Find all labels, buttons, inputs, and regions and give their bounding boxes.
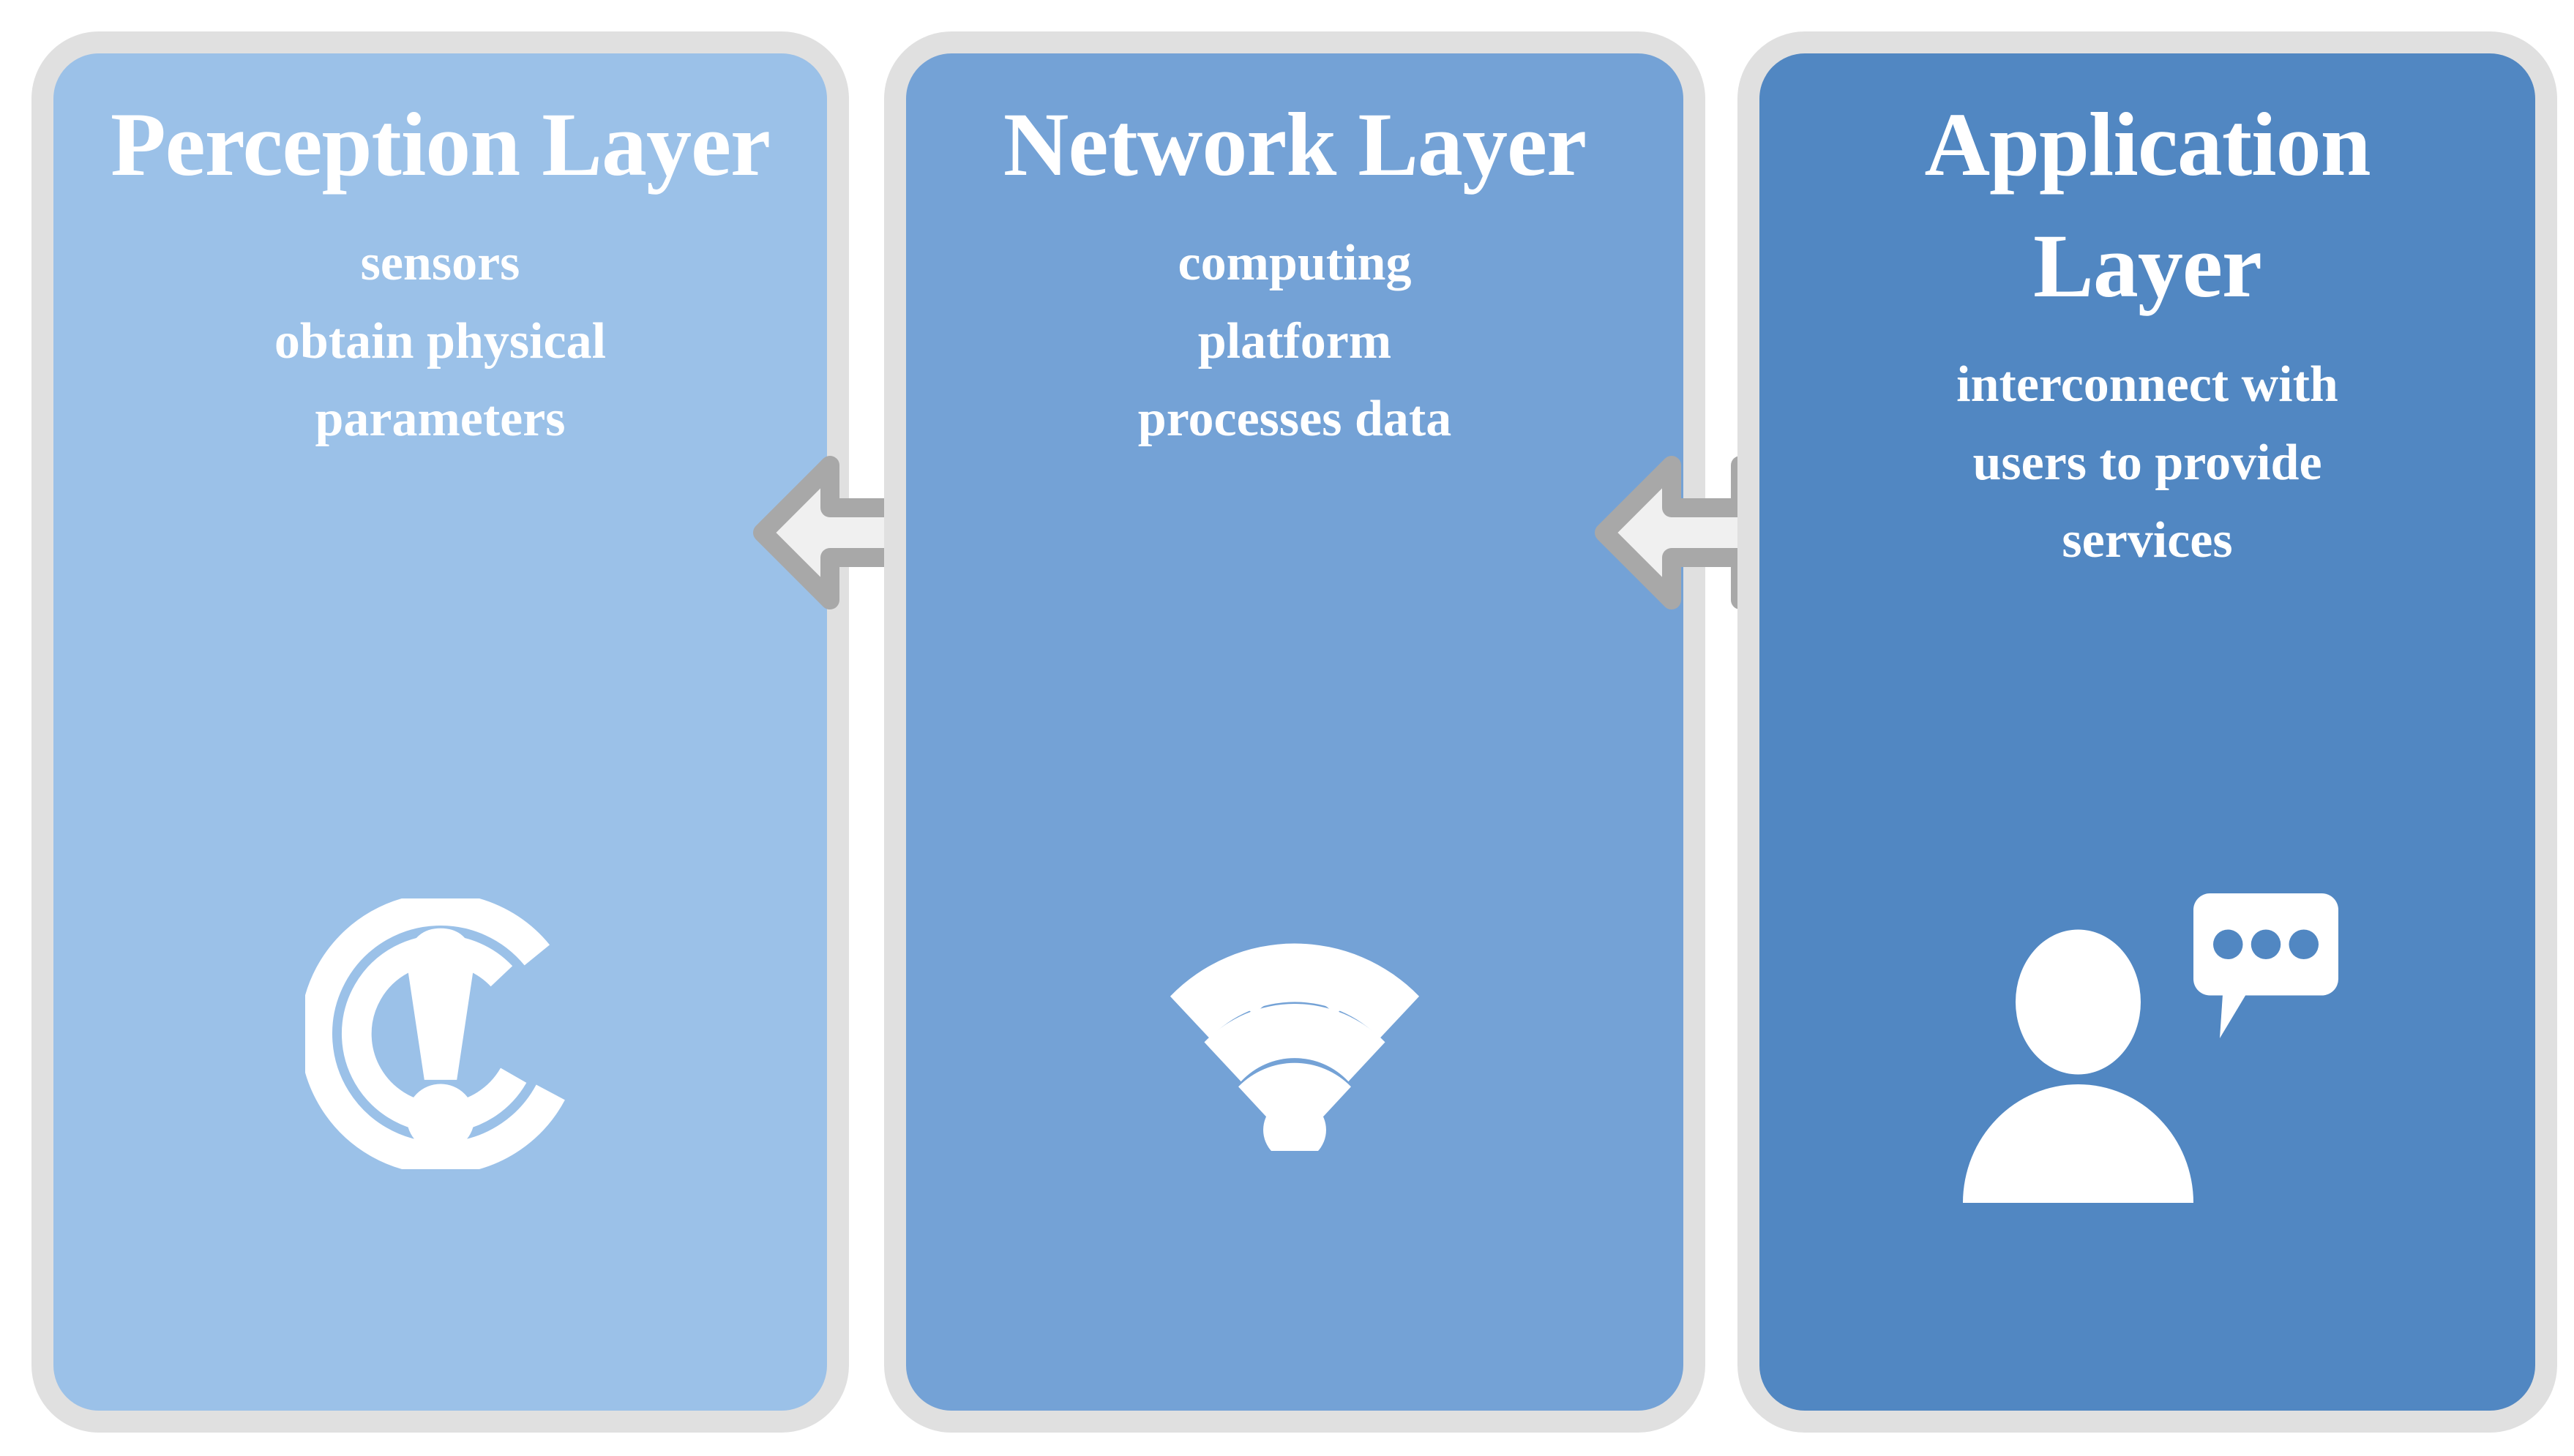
card-title-line-1: Application — [1924, 94, 2370, 195]
card-network-layer[interactable]: Network Layer computing platform process… — [884, 31, 1705, 1433]
card-body-line-3: parameters — [92, 380, 788, 458]
card-perception-layer[interactable]: Perception Layer sensors obtain physical… — [31, 31, 849, 1433]
card-title-line-2: Layer — [1358, 94, 1586, 195]
diagram-canvas: Perception Layer sensors obtain physical… — [0, 0, 2574, 1456]
card-body-line-3: services — [1798, 502, 2496, 579]
card-body-line-1: computing — [945, 225, 1645, 302]
card-title-line-2: Layer — [2033, 216, 2261, 316]
card-body-line-3: processes data — [945, 380, 1645, 458]
card-application-layer[interactable]: Application Layer interconnect with user… — [1737, 31, 2557, 1433]
card-body-line-2: obtain physical — [92, 303, 788, 380]
card-body-line-2: users to provide — [1798, 424, 2496, 502]
wifi-icon — [906, 939, 1683, 1151]
card-title-network: Network Layer — [960, 84, 1628, 206]
card-body-line-2: platform — [945, 303, 1645, 380]
card-title-line-2: Layer — [542, 94, 770, 195]
card-title-perception: Perception Layer — [108, 84, 773, 206]
user-chat-icon — [1759, 880, 2535, 1209]
sensor-alert-icon — [53, 898, 827, 1169]
card-body-line-1: sensors — [92, 225, 788, 302]
card-body-network: computing platform processes data — [945, 225, 1645, 458]
card-title-line-1: Network — [1003, 94, 1336, 195]
card-body-perception: sensors obtain physical parameters — [92, 225, 788, 458]
card-title-application: Application Layer — [1814, 84, 2481, 327]
speech-bubble-icon — [2193, 893, 2338, 1038]
card-body-application: interconnect with users to provide servi… — [1798, 346, 2496, 579]
card-body-line-1: interconnect with — [1798, 346, 2496, 424]
card-title-line-1: Perception — [111, 94, 520, 195]
